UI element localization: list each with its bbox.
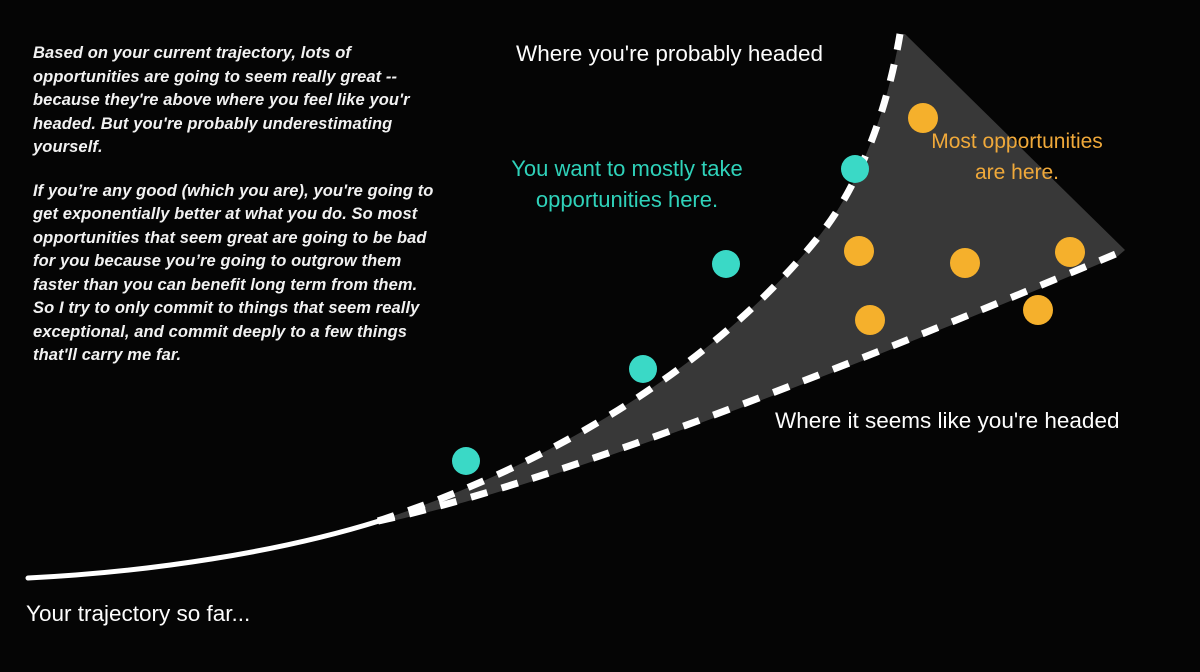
most-opportunity-dot [1023,295,1053,325]
note-paragraph-2: If you’re any good (which you are), you'… [33,180,438,368]
most-opportunity-dot [855,305,885,335]
good-opportunity-dot [629,355,657,383]
chart-canvas: Based on your current trajectory, lots o… [0,0,1200,672]
opportunity-wedge [378,34,1125,524]
label-take-opportunities-here: You want to mostly take opportunities he… [491,153,763,215]
label-your-trajectory-so-far: Your trajectory so far... [26,601,250,627]
good-opportunity-dot [712,250,740,278]
note-paragraph-1: Based on your current trajectory, lots o… [33,42,438,160]
label-where-youre-probably-headed: Where you're probably headed [516,41,823,67]
most-opportunity-dot [950,248,980,278]
good-opportunity-dot [452,447,480,475]
most-opportunity-dot [844,236,874,266]
label-most-opportunities-are-here: Most opportunities are here. [920,126,1114,188]
past-trajectory-solid-line [28,521,379,578]
label-where-it-seems-like-youre-headed: Where it seems like you're headed [775,408,1119,434]
good-opportunity-dot [841,155,869,183]
explanatory-note: Based on your current trajectory, lots o… [33,42,438,368]
most-opportunity-dot [1055,237,1085,267]
